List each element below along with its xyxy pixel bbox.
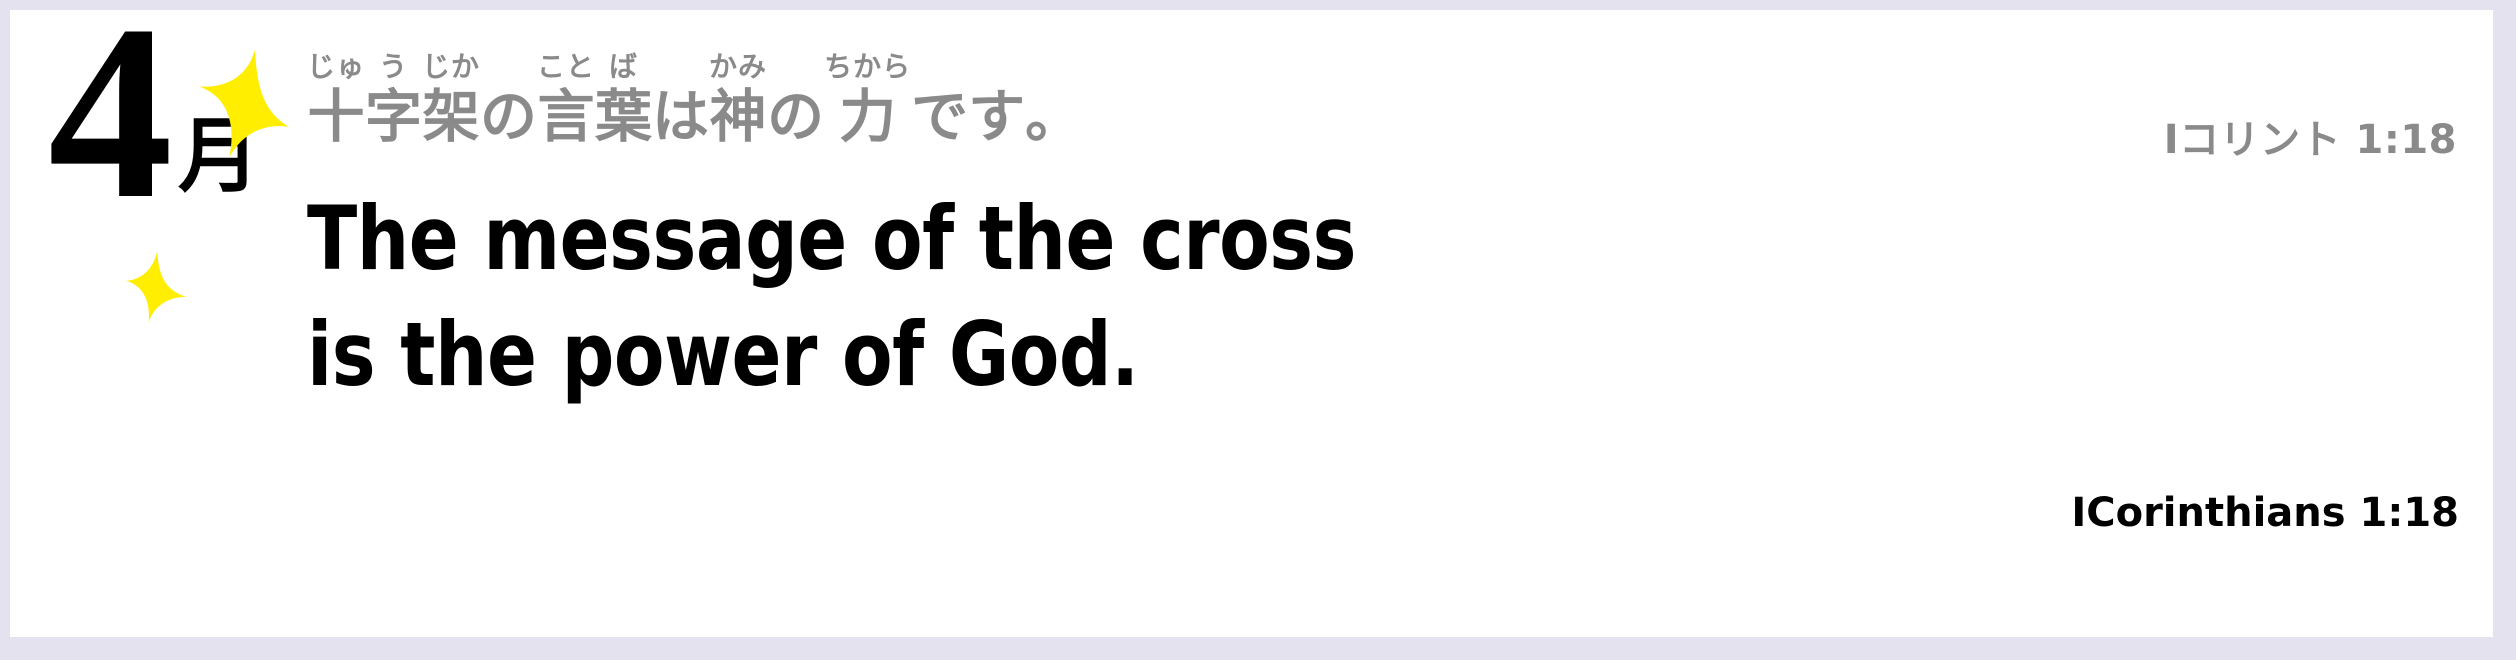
- english-scripture-reference: ICorinthians 1:18: [2071, 490, 2459, 536]
- punctuation: 。: [1025, 84, 1082, 151]
- month-number: 4: [48, 10, 167, 238]
- japanese-segment: xで: [911, 52, 968, 151]
- english-verse-block: The message of the cross is the power of…: [307, 195, 2007, 399]
- kanji: 字: [365, 84, 422, 151]
- furigana: かみ: [709, 52, 767, 84]
- japanese-segment: かみ神: [709, 52, 767, 151]
- japanese-segment: ちから力: [824, 52, 911, 151]
- english-verse-line-2: is the power of God.: [307, 311, 1888, 399]
- japanese-scripture-reference: Iコリント 1:18: [2164, 107, 2457, 165]
- kana: は: [652, 84, 709, 151]
- japanese-segment: じゅ十: [307, 52, 365, 151]
- kanji: 力: [824, 84, 911, 151]
- japanese-segment: xす: [968, 52, 1025, 151]
- furigana: じか: [422, 52, 480, 84]
- sparkle-icon-small: [125, 250, 187, 324]
- kanji: 神: [709, 84, 767, 151]
- furigana: う: [365, 52, 422, 84]
- verse-card: 4 月 じゅ十う字じか架xのこと言ば葉xはかみ神xのちから力xでxすx。 Iコリ…: [10, 10, 2493, 637]
- japanese-segment: xの: [480, 52, 537, 151]
- furigana: こと: [537, 52, 595, 84]
- kanji: 葉: [595, 84, 652, 151]
- kana: す: [968, 84, 1025, 151]
- japanese-segment: ば葉: [595, 52, 652, 151]
- furigana: ちから: [824, 52, 911, 84]
- japanese-segment: う字: [365, 52, 422, 151]
- japanese-segment: x。: [1025, 52, 1082, 151]
- japanese-segment: じか架: [422, 52, 480, 151]
- english-verse-line-1: The message of the cross: [307, 195, 1888, 283]
- kanji: 十: [307, 84, 365, 151]
- kanji: 架: [422, 84, 480, 151]
- kana: で: [911, 84, 968, 151]
- furigana: じゅ: [307, 52, 365, 84]
- japanese-verse-line: じゅ十う字じか架xのこと言ば葉xはかみ神xのちから力xでxすx。: [307, 52, 1082, 151]
- japanese-segment: xは: [652, 52, 709, 151]
- kana: の: [767, 84, 824, 151]
- furigana: ば: [595, 52, 652, 84]
- japanese-segment: こと言: [537, 52, 595, 151]
- kanji: 言: [537, 84, 595, 151]
- japanese-segment: xの: [767, 52, 824, 151]
- sparkle-icon-large: [198, 48, 290, 158]
- kana: の: [480, 84, 537, 151]
